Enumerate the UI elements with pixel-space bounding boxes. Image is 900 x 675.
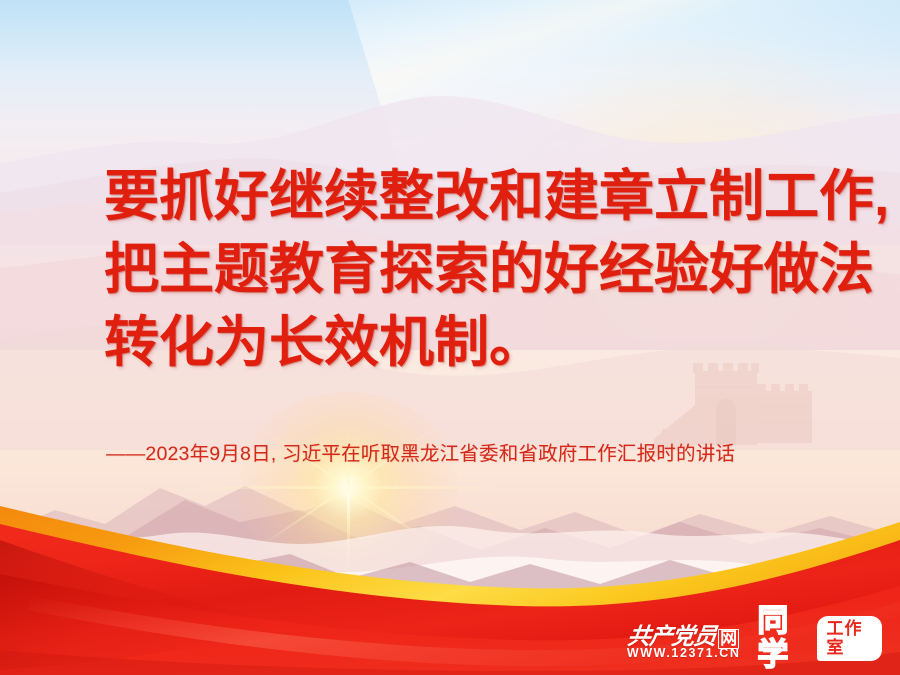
headline-line-3: 转化为长效机制。 — [104, 306, 864, 379]
site-logo[interactable]: 共产党员 网 WWW.12371.CN — [624, 617, 743, 660]
studio-label: 工作室 — [817, 616, 882, 661]
headline-line-2: 把主题教育探索的好经验好做法 — [104, 233, 864, 306]
site-name-script: 共产党员 — [626, 617, 718, 651]
studio-name: 同学 — [757, 604, 812, 672]
headline-line-1: 要抓好继续整改和建章立制工作, — [104, 160, 864, 233]
logo-group[interactable]: 共产党员 网 WWW.12371.CN 同学 工作室 — [624, 612, 882, 664]
attribution-line: ——2023年9月8日, 习近平在听取黑龙江省委和省政府工作汇报时的讲话 — [106, 440, 735, 468]
studio-logo[interactable]: 同学 工作室 — [757, 604, 882, 672]
page-title: 要抓好继续整改和建章立制工作, 把主题教育探索的好经验好做法 转化为长效机制。 — [104, 160, 864, 379]
site-logo-wordmark: 共产党员 网 — [628, 617, 739, 644]
poster-canvas: 要抓好继续整改和建章立制工作, 把主题教育探索的好经验好做法 转化为长效机制。 … — [0, 0, 900, 675]
